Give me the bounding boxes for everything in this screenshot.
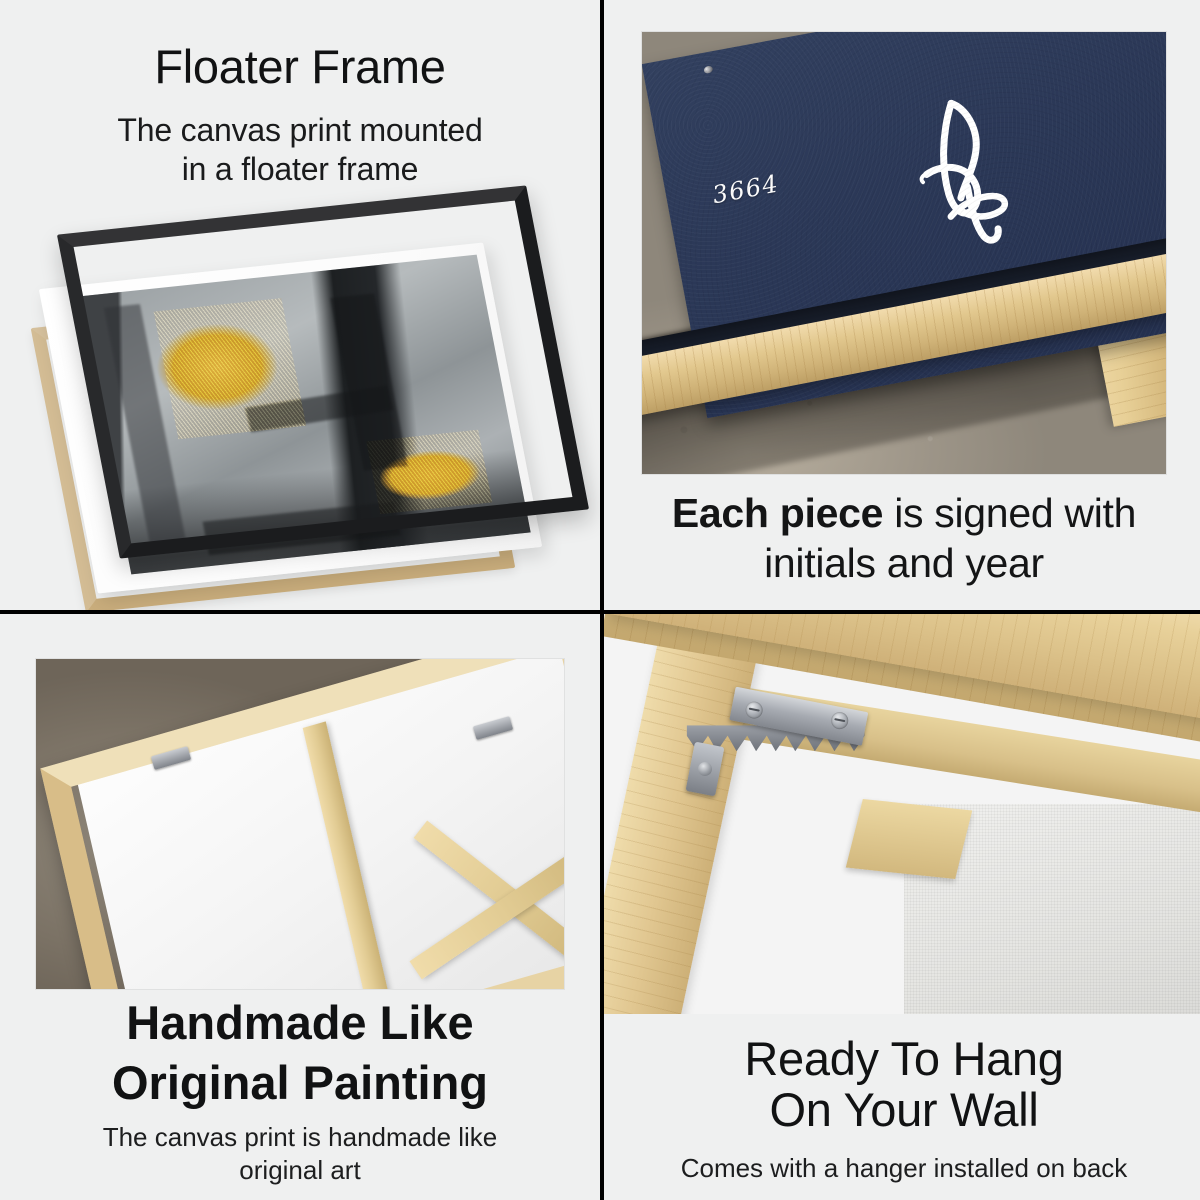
panel-ready-to-hang: Ready To Hang On Your Wall Comes with a … (604, 614, 1200, 1200)
corner-wedge (846, 799, 972, 879)
panel-handmade-like-original: Handmade Like Original Painting The canv… (0, 614, 600, 1200)
ready-to-hang-subtitle: Comes with a hanger installed on back (608, 1152, 1200, 1185)
ready-to-hang-text-block: Ready To Hang On Your Wall Comes with a … (608, 1034, 1200, 1184)
handmade-title-line-2: Original Painting (0, 1058, 600, 1109)
signature-photo: 3664 (642, 32, 1166, 474)
black-floater-frame-layer (57, 185, 589, 558)
signature-year: 3664 (710, 169, 781, 209)
ready-to-hang-title-line-2: On Your Wall (608, 1085, 1200, 1136)
artist-signature-icon (874, 74, 1055, 279)
handmade-title-line-1: Handmade Like (0, 998, 600, 1049)
panel-floater-frame: Floater Frame The canvas print mounted i… (0, 0, 600, 610)
handmade-subtitle-line-2: original art (0, 1154, 600, 1187)
handmade-text-block: Handmade Like Original Painting The canv… (0, 998, 600, 1187)
hanger-photo (604, 614, 1200, 1014)
stretcher-bars-photo (36, 659, 564, 989)
floater-frame-subtitle-line-1: The canvas print mounted (0, 111, 600, 150)
floater-frame-text-block: Floater Frame The canvas print mounted i… (0, 42, 600, 189)
page-title: Floater Frame (0, 42, 600, 93)
signed-piece-caption: Each piece is signed with initials and y… (612, 488, 1196, 588)
panel-signed-piece: 3664 Each piece is signed with initials … (604, 0, 1200, 610)
canvas-staple (703, 65, 714, 75)
caption-rest: is signed with (883, 490, 1136, 536)
signed-piece-caption-line-1: Each piece is signed with (612, 488, 1196, 538)
ready-to-hang-title-line-1: Ready To Hang (608, 1034, 1200, 1085)
caption-emphasis: Each piece (672, 490, 883, 536)
signed-piece-caption-line-2: initials and year (612, 538, 1196, 588)
sawtooth-hanger-icon (725, 687, 869, 770)
product-feature-infographic: Floater Frame The canvas print mounted i… (0, 0, 1200, 1200)
floater-frame-subtitle-line-2: in a floater frame (0, 150, 600, 189)
exploded-frame-illustration (0, 185, 600, 610)
handmade-subtitle-line-1: The canvas print is handmade like (0, 1121, 600, 1154)
